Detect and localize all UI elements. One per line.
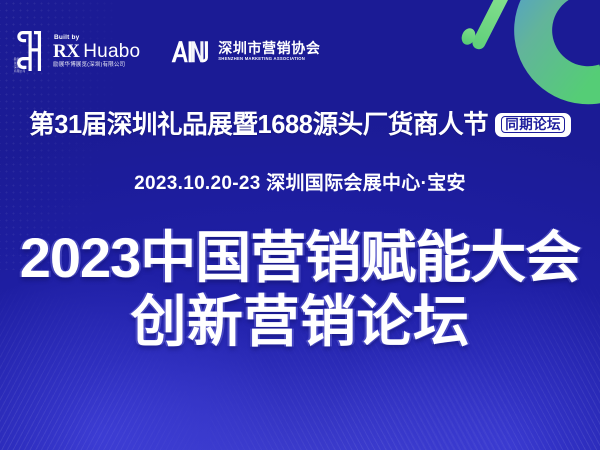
expo-title-row: 第31届深圳礼品展暨1688源头厂货商人节 同期论坛 — [0, 110, 600, 140]
date-venue-row: 2023.10.20-23 深圳国际会展中心·宝安 — [0, 168, 600, 195]
side-text-2: 展览 — [14, 62, 26, 65]
header-logos: 励展华博 展览 深圳 有限公司 Built by RX Huabo 励展华博展览… — [14, 27, 320, 75]
organizer-company-cn: 励展华博展览(深圳)有限公司 — [53, 62, 140, 69]
organizer-brand-block: Built by RX Huabo 励展华博展览(深圳)有限公司 — [53, 34, 140, 69]
expo-title: 第31届深圳礼品展暨1688源头厂货商人节 — [29, 110, 488, 140]
organizer-monogram-icon: 励展华博 展览 深圳 有限公司 — [14, 27, 44, 75]
association-logo: 深圳市营销协会 SHENZHEN MARKETING ASSOCIATION — [170, 36, 320, 66]
association-text: 深圳市营销协会 SHENZHEN MARKETING ASSOCIATION — [218, 41, 320, 61]
brand-rx: RX — [53, 42, 79, 61]
brand-name: Huabo — [83, 42, 140, 61]
event-poster: 励展华博 展览 深圳 有限公司 Built by RX Huabo 励展华博展览… — [0, 0, 600, 450]
dot-icon — [459, 26, 477, 47]
slash-icon — [470, 0, 511, 51]
date-venue: 2023.10.20-23 深圳国际会展中心·宝安 — [134, 173, 466, 194]
forum-badge-label: 同期论坛 — [501, 116, 565, 133]
decoration-group — [442, 0, 600, 166]
forum-badge: 同期论坛 — [495, 113, 571, 137]
sma-monogram-icon — [170, 36, 212, 66]
gradient-ring-icon — [442, 0, 600, 166]
association-name-en: SHENZHEN MARKETING ASSOCIATION — [218, 57, 320, 61]
side-text-1: 励展华博 — [14, 58, 26, 61]
brand-line: RX Huabo — [53, 42, 140, 61]
side-text-4: 有限公司 — [14, 70, 26, 73]
side-text-3: 深圳 — [14, 66, 26, 69]
main-headline: 2023中国营销赋能大会 创新营销论坛 — [0, 226, 600, 354]
association-name-cn: 深圳市营销协会 — [218, 41, 320, 55]
headline-line-2: 创新营销论坛 — [0, 290, 600, 354]
headline-line-1: 2023中国营销赋能大会 — [0, 226, 600, 290]
monogram-side-text: 励展华博 展览 深圳 有限公司 — [14, 43, 25, 73]
